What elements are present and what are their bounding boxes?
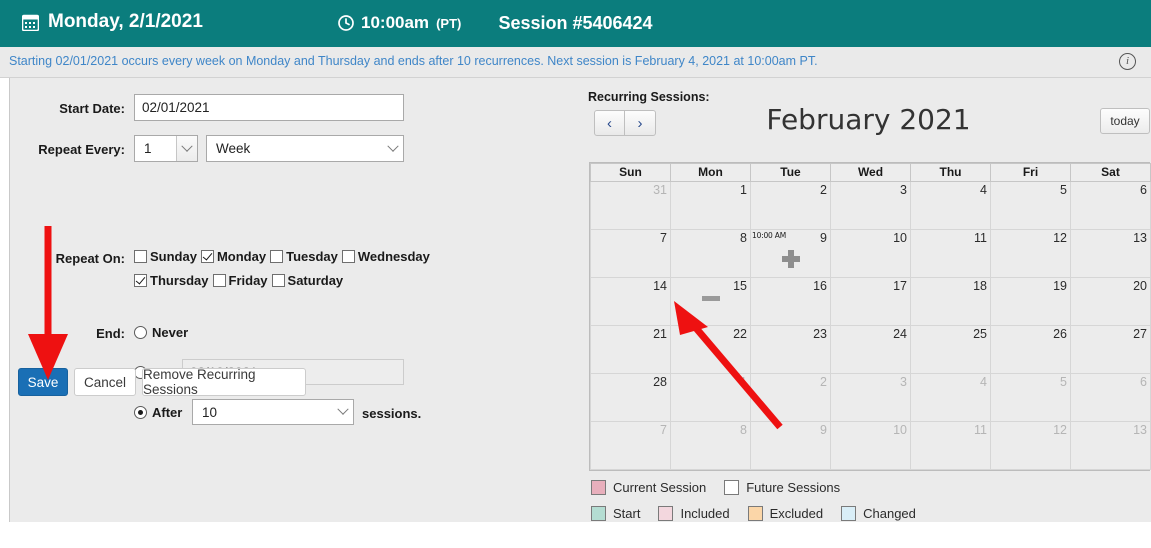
session-time-text: 10:00am bbox=[361, 13, 429, 33]
calendar-day-cell[interactable]: 12 bbox=[991, 422, 1071, 470]
calendar-day-number: 12 bbox=[1053, 231, 1067, 245]
calendar-day-number: 10 bbox=[893, 231, 907, 245]
calendar-day-number: 19 bbox=[1053, 279, 1067, 293]
calendar-day-number: 14 bbox=[653, 279, 667, 293]
calendar-month-title: February 2021 bbox=[585, 103, 1151, 136]
editor-panel: Start Date: Repeat Every: 1 Week Repeat … bbox=[9, 78, 1151, 522]
legend-label: Included bbox=[680, 506, 729, 521]
repeat-on-saturday-label: Saturday bbox=[288, 273, 344, 288]
end-never-label: Never bbox=[152, 325, 188, 340]
calendar-day-number: 2 bbox=[820, 183, 827, 197]
calendar-grid-wrap: SunMonTueWedThuFriSat 311234567810:00 AM… bbox=[589, 162, 1150, 471]
calendar-day-cell[interactable]: 10 bbox=[831, 422, 911, 470]
legend-color-swatch bbox=[724, 480, 739, 495]
legend-item-excluded: Excluded bbox=[748, 506, 823, 521]
calendar-day-number: 9 bbox=[820, 423, 827, 437]
calendar-day-cell[interactable]: 17 bbox=[831, 278, 911, 326]
repeat-on-monday-checkbox[interactable]: Monday bbox=[201, 249, 266, 264]
checkbox-checked-icon[interactable] bbox=[134, 274, 147, 287]
calendar-day-number: 31 bbox=[653, 183, 667, 197]
legend-item-changed: Changed bbox=[841, 506, 916, 521]
calendar-day-cell[interactable]: 9 bbox=[751, 422, 831, 470]
calendar-day-number: 13 bbox=[1133, 423, 1147, 437]
legend-color-swatch bbox=[748, 506, 763, 521]
repeat-on-thursday-label: Thursday bbox=[150, 273, 209, 288]
calendar-day-cell[interactable]: 7 bbox=[591, 422, 671, 470]
end-never-radio[interactable] bbox=[134, 326, 147, 339]
calendar-body: 311234567810:00 AM9101112131415161718192… bbox=[591, 182, 1151, 470]
calendar-day-cell[interactable]: 8 bbox=[671, 230, 751, 278]
chevron-down-icon bbox=[382, 136, 403, 161]
repeat-on-sunday-checkbox[interactable]: Sunday bbox=[134, 249, 197, 264]
calendar-day-number: 10 bbox=[893, 423, 907, 437]
legend-label: Future Sessions bbox=[746, 480, 840, 495]
calendar-day-number: 7 bbox=[660, 423, 667, 437]
calendar-day-number: 27 bbox=[1133, 327, 1147, 341]
session-date-text: Monday, 2/1/2021 bbox=[48, 11, 203, 33]
calendar-day-cell[interactable]: 10 bbox=[831, 230, 911, 278]
end-after-suffix: sessions. bbox=[362, 406, 421, 421]
legend-row-1: Current SessionFuture Sessions bbox=[591, 480, 1151, 495]
calendar-day-number: 3 bbox=[900, 183, 907, 197]
calendar-weekday-fri: Fri bbox=[991, 164, 1071, 182]
end-after-count-select[interactable]: 10 bbox=[192, 399, 354, 425]
calendar-day-number: 11 bbox=[974, 231, 987, 245]
repeat-unit-value: Week bbox=[207, 141, 382, 156]
repeat-on-wednesday-label: Wednesday bbox=[358, 249, 430, 264]
calendar-day-cell[interactable]: 20 bbox=[1071, 278, 1151, 326]
cancel-button[interactable]: Cancel bbox=[74, 368, 136, 396]
calendar-day-number: 9 bbox=[820, 231, 827, 245]
calendar-day-number: 11 bbox=[974, 423, 987, 437]
calendar-week-row: 14151617181920 bbox=[591, 278, 1151, 326]
calendar-day-number: 7 bbox=[660, 231, 667, 245]
calendar-week-row: 28123456 bbox=[591, 374, 1151, 422]
legend-row-2: StartIncludedExcludedChanged bbox=[591, 506, 1151, 521]
calendar-day-number: 15 bbox=[733, 279, 747, 293]
calendar-week-row: 7810:00 AM910111213 bbox=[591, 230, 1151, 278]
checkbox-unchecked-icon[interactable] bbox=[134, 250, 147, 263]
calendar-day-cell[interactable]: 1 bbox=[671, 374, 751, 422]
calendar-day-cell[interactable]: 21 bbox=[591, 326, 671, 374]
end-label: End: bbox=[20, 326, 125, 341]
repeat-on-friday-label: Friday bbox=[229, 273, 268, 288]
repeat-on-row-1: SundayMondayTuesdayWednesday bbox=[134, 249, 434, 264]
calendar-day-number: 21 bbox=[653, 327, 667, 341]
calendar-day-cell[interactable]: 2 bbox=[751, 182, 831, 230]
calendar-weekday-sun: Sun bbox=[591, 164, 671, 182]
end-after-radio[interactable] bbox=[134, 406, 147, 419]
calendar-day-cell[interactable]: 25 bbox=[911, 326, 991, 374]
calendar-day-number: 28 bbox=[653, 375, 667, 389]
calendar-day-number: 3 bbox=[900, 375, 907, 389]
legend-item-start: Start bbox=[591, 506, 640, 521]
calendar-day-number: 1 bbox=[740, 375, 747, 389]
start-date-label: Start Date: bbox=[20, 101, 125, 116]
calendar-day-cell[interactable]: 26 bbox=[991, 326, 1071, 374]
checkbox-checked-icon[interactable] bbox=[201, 250, 214, 263]
calendar-day-number: 22 bbox=[733, 327, 747, 341]
session-time: 10:00am (PT) bbox=[338, 13, 461, 33]
calendar-day-cell[interactable]: 11 bbox=[911, 422, 991, 470]
calendar-weekday-mon: Mon bbox=[671, 164, 751, 182]
recurring-sessions-calendar: Recurring Sessions: ‹ › February 2021 to… bbox=[585, 78, 1151, 522]
calendar-day-cell[interactable]: 3 bbox=[831, 182, 911, 230]
calendar-day-cell[interactable]: 11 bbox=[911, 230, 991, 278]
calendar-day-number: 5 bbox=[1060, 183, 1067, 197]
start-date-input[interactable] bbox=[134, 94, 404, 121]
calendar-day-number: 18 bbox=[973, 279, 987, 293]
calendar-day-number: 24 bbox=[893, 327, 907, 341]
calendar-day-number: 4 bbox=[980, 183, 987, 197]
repeat-on-label: Repeat On: bbox=[20, 251, 125, 266]
calendar-day-number: 12 bbox=[1053, 423, 1067, 437]
recurring-session-editor: Monday, 2/1/2021 10:00am (PT) Session #5… bbox=[0, 0, 1151, 548]
calendar-weekday-wed: Wed bbox=[831, 164, 911, 182]
calendar-day-cell[interactable]: 6 bbox=[1071, 374, 1151, 422]
legend-label: Current Session bbox=[613, 480, 706, 495]
repeat-on-sunday-label: Sunday bbox=[150, 249, 197, 264]
calendar-weekday-header: SunMonTueWedThuFriSat bbox=[591, 164, 1151, 182]
repeat-count-select[interactable]: 1 bbox=[134, 135, 198, 162]
calendar-day-cell[interactable]: 22 bbox=[671, 326, 751, 374]
calendar-day-cell[interactable]: 15 bbox=[671, 278, 751, 326]
calendar-grid: SunMonTueWedThuFriSat 311234567810:00 AM… bbox=[590, 163, 1151, 470]
save-button[interactable]: Save bbox=[18, 368, 68, 396]
calendar-day-number: 23 bbox=[813, 327, 827, 341]
repeat-unit-select[interactable]: Week bbox=[206, 135, 404, 162]
recurrence-summary-banner: Starting 02/01/2021 occurs every week on… bbox=[0, 47, 1151, 78]
repeat-count-value: 1 bbox=[135, 141, 176, 156]
repeat-on-row-2: ThursdayFridaySaturday bbox=[134, 273, 347, 288]
calendar-week-row: 78910111213 bbox=[591, 422, 1151, 470]
calendar-day-number: 6 bbox=[1140, 183, 1147, 197]
calendar-day-cell[interactable]: 13 bbox=[1071, 230, 1151, 278]
repeat-on-tuesday-label: Tuesday bbox=[286, 249, 338, 264]
calendar-day-cell[interactable]: 28 bbox=[591, 374, 671, 422]
session-date: Monday, 2/1/2021 bbox=[22, 11, 203, 33]
end-after-option[interactable]: After bbox=[134, 405, 182, 420]
calendar-day-cell[interactable]: 12 bbox=[991, 230, 1071, 278]
calendar-icon bbox=[22, 14, 39, 31]
repeat-on-friday-checkbox[interactable]: Friday bbox=[213, 273, 268, 288]
calendar-day-cell[interactable]: 31 bbox=[591, 182, 671, 230]
calendar-day-number: 13 bbox=[1133, 231, 1147, 245]
legend-color-swatch bbox=[591, 480, 606, 495]
plus-icon[interactable] bbox=[782, 250, 800, 268]
calendar-weekday-sat: Sat bbox=[1071, 164, 1151, 182]
end-after-count-value: 10 bbox=[193, 405, 332, 420]
legend-item-included: Included bbox=[658, 506, 729, 521]
end-never-option[interactable]: Never bbox=[134, 325, 188, 340]
checkbox-unchecked-icon[interactable] bbox=[270, 250, 283, 263]
calendar-day-cell[interactable]: 27 bbox=[1071, 326, 1151, 374]
recurrence-form: Start Date: Repeat Every: 1 Week Repeat … bbox=[10, 78, 580, 522]
calendar-day-cell[interactable]: 13 bbox=[1071, 422, 1151, 470]
repeat-every-label: Repeat Every: bbox=[20, 142, 125, 157]
legend-label: Excluded bbox=[770, 506, 823, 521]
minus-icon[interactable] bbox=[702, 296, 720, 301]
legend-item-future-sessions: Future Sessions bbox=[724, 480, 840, 495]
legend-label: Start bbox=[613, 506, 640, 521]
today-button[interactable]: today bbox=[1100, 108, 1150, 134]
calendar-legend: Current SessionFuture Sessions StartIncl… bbox=[591, 480, 1151, 532]
calendar-day-cell[interactable]: 19 bbox=[991, 278, 1071, 326]
calendar-day-number: 4 bbox=[980, 375, 987, 389]
calendar-week-row: 31123456 bbox=[591, 182, 1151, 230]
repeat-on-saturday-checkbox[interactable]: Saturday bbox=[272, 273, 344, 288]
calendar-day-cell[interactable]: 7 bbox=[591, 230, 671, 278]
calendar-day-time-label: 10:00 AM bbox=[752, 231, 786, 240]
recurrence-summary-text: Starting 02/01/2021 occurs every week on… bbox=[9, 54, 818, 68]
calendar-weekday-thu: Thu bbox=[911, 164, 991, 182]
session-timezone: (PT) bbox=[436, 16, 461, 31]
calendar-day-number: 8 bbox=[740, 423, 747, 437]
calendar-day-cell[interactable]: 4 bbox=[911, 182, 991, 230]
remove-recurring-sessions-button[interactable]: Remove Recurring Sessions bbox=[142, 368, 306, 396]
calendar-week-row: 21222324252627 bbox=[591, 326, 1151, 374]
checkbox-unchecked-icon[interactable] bbox=[213, 274, 226, 287]
repeat-on-wednesday-checkbox[interactable]: Wednesday bbox=[342, 249, 430, 264]
repeat-on-monday-label: Monday bbox=[217, 249, 266, 264]
calendar-day-cell[interactable]: 5 bbox=[991, 374, 1071, 422]
calendar-day-cell[interactable]: 23 bbox=[751, 326, 831, 374]
calendar-day-cell[interactable]: 2 bbox=[751, 374, 831, 422]
legend-item-current-session: Current Session bbox=[591, 480, 706, 495]
calendar-day-cell[interactable]: 16 bbox=[751, 278, 831, 326]
calendar-day-number: 17 bbox=[893, 279, 907, 293]
chevron-down-icon bbox=[176, 136, 197, 161]
calendar-caption: Recurring Sessions: bbox=[588, 90, 710, 104]
legend-color-swatch bbox=[841, 506, 856, 521]
calendar-day-cell[interactable]: 18 bbox=[911, 278, 991, 326]
calendar-day-number: 25 bbox=[973, 327, 987, 341]
info-circle-icon[interactable]: i bbox=[1119, 53, 1136, 70]
calendar-day-cell[interactable]: 24 bbox=[831, 326, 911, 374]
calendar-day-number: 16 bbox=[813, 279, 827, 293]
calendar-day-cell[interactable]: 6 bbox=[1071, 182, 1151, 230]
legend-label: Changed bbox=[863, 506, 916, 521]
end-after-label: After bbox=[152, 405, 182, 420]
calendar-day-number: 2 bbox=[820, 375, 827, 389]
calendar-day-cell[interactable]: 8 bbox=[671, 422, 751, 470]
calendar-day-cell[interactable]: 3 bbox=[831, 374, 911, 422]
chevron-down-icon bbox=[332, 400, 353, 424]
checkbox-unchecked-icon[interactable] bbox=[272, 274, 285, 287]
calendar-day-number: 8 bbox=[740, 231, 747, 245]
calendar-day-cell[interactable]: 10:00 AM9 bbox=[751, 230, 831, 278]
calendar-day-cell[interactable]: 14 bbox=[591, 278, 671, 326]
checkbox-unchecked-icon[interactable] bbox=[342, 250, 355, 263]
calendar-day-number: 1 bbox=[740, 183, 747, 197]
legend-color-swatch bbox=[658, 506, 673, 521]
calendar-day-number: 20 bbox=[1133, 279, 1147, 293]
calendar-weekday-tue: Tue bbox=[751, 164, 831, 182]
session-header-bar: Monday, 2/1/2021 10:00am (PT) Session #5… bbox=[0, 0, 1151, 47]
calendar-day-number: 26 bbox=[1053, 327, 1067, 341]
clock-icon bbox=[338, 15, 354, 31]
calendar-day-cell[interactable]: 1 bbox=[671, 182, 751, 230]
calendar-day-number: 5 bbox=[1060, 375, 1067, 389]
repeat-on-tuesday-checkbox[interactable]: Tuesday bbox=[270, 249, 338, 264]
repeat-on-thursday-checkbox[interactable]: Thursday bbox=[134, 273, 209, 288]
calendar-day-cell[interactable]: 5 bbox=[991, 182, 1071, 230]
calendar-day-cell[interactable]: 4 bbox=[911, 374, 991, 422]
legend-color-swatch bbox=[591, 506, 606, 521]
calendar-day-number: 6 bbox=[1140, 375, 1147, 389]
